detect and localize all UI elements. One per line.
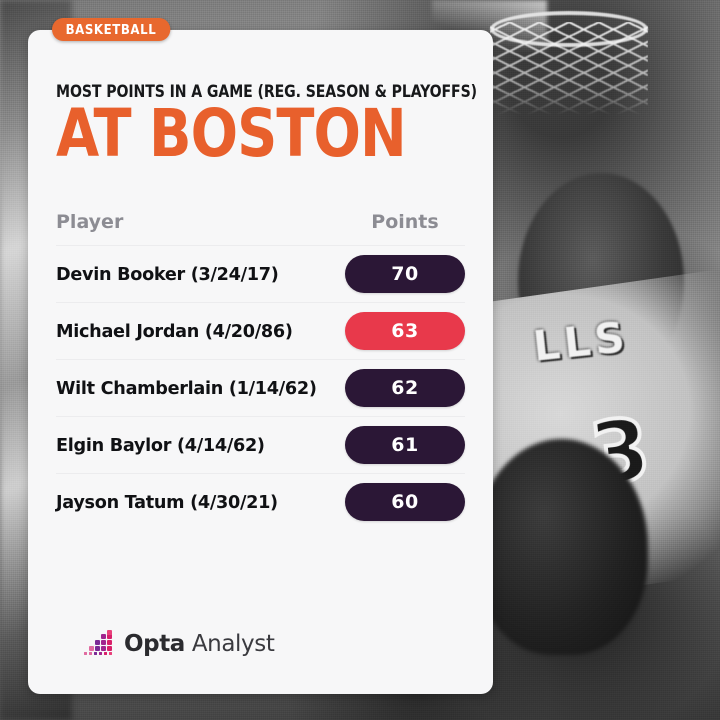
card-content: MOST POINTS IN A GAME (REG. SEASON & PLA… <box>28 30 493 530</box>
column-header-player: Player <box>56 211 345 233</box>
opta-logo-icon <box>84 630 114 658</box>
table-row: Devin Booker (3/24/17)70 <box>56 245 465 302</box>
leaderboard-table: Player Points Devin Booker (3/24/17)70Mi… <box>56 211 465 530</box>
player-name: Elgin Baylor (4/14/62) <box>56 435 339 456</box>
points-pill: 61 <box>345 426 465 464</box>
category-badge[interactable]: BASKETBALL <box>52 18 170 41</box>
page-title: AT BOSTON <box>56 105 440 163</box>
player-name: Wilt Chamberlain (1/14/62) <box>56 378 339 399</box>
brand-name-light: Analyst <box>185 631 275 657</box>
player-name: Jayson Tatum (4/30/21) <box>56 492 339 513</box>
points-pill-highlighted: 63 <box>345 312 465 350</box>
table-row: Elgin Baylor (4/14/62)61 <box>56 416 465 473</box>
points-cell: 70 <box>345 255 465 293</box>
points-cell: 63 <box>345 312 465 350</box>
brand-footer: Opta Analyst <box>84 630 274 658</box>
points-pill: 70 <box>345 255 465 293</box>
table-body: Devin Booker (3/24/17)70Michael Jordan (… <box>56 245 465 530</box>
table-row: Jayson Tatum (4/30/21)60 <box>56 473 465 530</box>
player-name: Michael Jordan (4/20/86) <box>56 321 339 342</box>
points-cell: 60 <box>345 483 465 521</box>
points-cell: 62 <box>345 369 465 407</box>
table-row: Wilt Chamberlain (1/14/62)62 <box>56 359 465 416</box>
stat-card: MOST POINTS IN A GAME (REG. SEASON & PLA… <box>28 30 493 694</box>
points-pill: 60 <box>345 483 465 521</box>
player-name: Devin Booker (3/24/17) <box>56 264 339 285</box>
brand-name-bold: Opta <box>124 631 185 657</box>
points-cell: 61 <box>345 426 465 464</box>
table-row: Michael Jordan (4/20/86)63 <box>56 302 465 359</box>
points-pill: 62 <box>345 369 465 407</box>
column-header-points: Points <box>345 211 465 233</box>
brand-name: Opta Analyst <box>124 631 274 657</box>
table-header-row: Player Points <box>56 211 465 245</box>
